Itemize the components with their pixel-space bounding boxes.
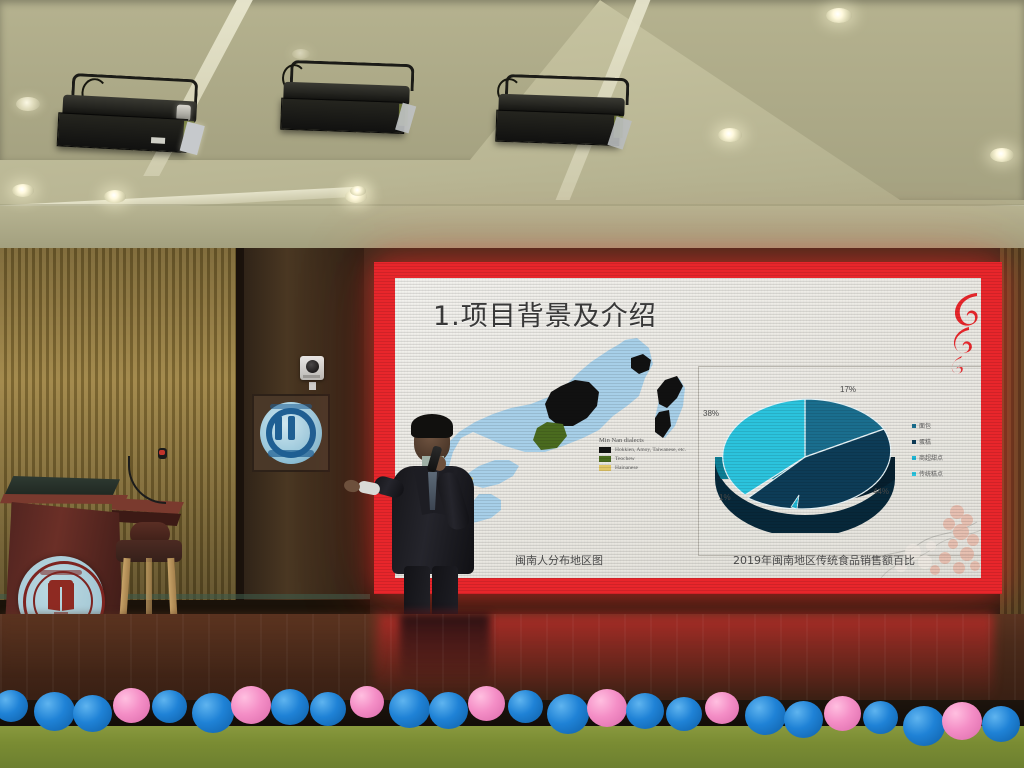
map-legend-title: Min Nan dialects — [599, 437, 711, 444]
downlight-9 — [292, 49, 310, 59]
emblem-text-band — [268, 450, 314, 457]
map-legend: Min Nan dialects Hokkien, Amoy, Taiwanes… — [599, 437, 711, 471]
balloon — [34, 692, 75, 731]
balloon — [113, 688, 150, 723]
downlight-1 — [12, 184, 34, 197]
balloon — [626, 693, 664, 729]
ceiling — [0, 0, 1024, 258]
balloon — [824, 696, 861, 731]
pie-chart-legend: 面包 蛋糕 商超甜点 传统糕点 — [912, 421, 981, 485]
map-legend-label-teochew: Teochew — [615, 456, 635, 462]
emblem-stroke-2 — [288, 416, 295, 440]
pie-legend-item-0: 面包 — [912, 421, 981, 430]
pie-legend-item-1: 蛋糕 — [912, 437, 981, 446]
balloon — [389, 689, 430, 728]
map-legend-label-hainanese: Hainanese — [615, 465, 638, 471]
camera-label-strip — [303, 375, 320, 378]
balloon — [666, 697, 702, 731]
surveillance-camera — [300, 356, 326, 386]
emblem-top-band — [270, 404, 312, 409]
balloon — [587, 689, 627, 727]
pie-legend-label-0: 面包 — [919, 421, 931, 430]
presenter-hair — [411, 414, 453, 438]
microphone-indicator-led — [159, 450, 165, 455]
balloon — [429, 692, 468, 729]
balloon — [745, 696, 786, 735]
wall-emblem-plaque — [252, 394, 330, 472]
seal-book-top — [49, 580, 73, 587]
pie-value-label-0: 17% — [840, 385, 856, 394]
pie-legend-swatch-3 — [912, 472, 916, 476]
balloon — [0, 690, 28, 722]
stage-light-left — [54, 70, 205, 174]
map-legend-swatch-hainanese — [599, 465, 611, 471]
lectern-top-edge — [0, 494, 128, 504]
downlight-7 — [826, 8, 852, 23]
balloon — [705, 692, 739, 724]
downlight-5 — [350, 186, 366, 196]
pie-legend-label-1: 蛋糕 — [919, 437, 931, 446]
seal-book-right — [62, 583, 74, 611]
stage-light-center — [277, 60, 420, 157]
presenter-hand-left — [343, 478, 361, 493]
wood-slat-wall-right — [1000, 248, 1024, 640]
pie-legend-label-3: 传统糕点 — [919, 469, 943, 478]
balloon — [73, 695, 112, 732]
slide-title: 1.项目背景及介绍 — [433, 294, 657, 333]
presentation-hall-photo: 1.项目背景及介绍 — [0, 0, 1024, 768]
balloon — [784, 701, 823, 738]
pie-legend-item-3: 传统糕点 — [912, 469, 981, 478]
balloon — [903, 706, 945, 746]
stage-light-right — [492, 74, 635, 171]
balloon — [310, 692, 346, 726]
downlight-8 — [990, 148, 1014, 162]
map-legend-swatch-teochew — [599, 456, 611, 462]
balloon — [942, 702, 982, 740]
balloon — [271, 689, 309, 725]
map-legend-item-hokkien: Hokkien, Amoy, Taiwanese, etc. — [599, 447, 711, 453]
chart-caption: 2019年闽南地区传统食品销售额百比 — [733, 552, 915, 568]
pie-legend-swatch-1 — [912, 440, 916, 444]
pie-legend-swatch-2 — [912, 456, 916, 460]
balloon — [508, 690, 543, 723]
balloon — [468, 686, 505, 721]
pie-value-label-2: 1% — [719, 493, 731, 502]
seal-book-left — [48, 583, 60, 611]
downlight-3 — [16, 97, 40, 111]
corner-ornament-icon — [933, 292, 981, 376]
map-caption: 闽南人分布地区图 — [515, 552, 603, 568]
seal-text-cn — [40, 570, 82, 575]
balloon — [350, 686, 384, 718]
map-legend-label-hokkien: Hokkien, Amoy, Taiwanese, etc. — [615, 447, 686, 453]
emblem-stroke-1 — [275, 416, 282, 440]
balloon-garland — [0, 660, 1024, 740]
balloon — [547, 694, 589, 734]
pie-legend-label-2: 商超甜点 — [919, 453, 943, 462]
map-legend-item-teochew: Teochew — [599, 456, 711, 462]
pie-legend-item-2: 商超甜点 — [912, 453, 981, 462]
balloon — [152, 690, 187, 723]
balloon — [982, 706, 1020, 742]
downlight-6 — [718, 128, 742, 142]
pie-value-label-3: 38% — [703, 409, 719, 418]
pillar-edge — [236, 248, 244, 640]
balloon — [192, 693, 234, 733]
balloon — [231, 686, 271, 724]
downlight-2 — [104, 190, 126, 203]
map-legend-swatch-hokkien — [599, 447, 611, 453]
ceiling-coffer-right — [600, 0, 1024, 200]
map-legend-item-hainanese: Hainanese — [599, 465, 711, 471]
gooseneck-microphone-stand[interactable] — [128, 456, 166, 504]
pie-legend-swatch-0 — [912, 424, 916, 428]
balloon — [863, 701, 898, 734]
